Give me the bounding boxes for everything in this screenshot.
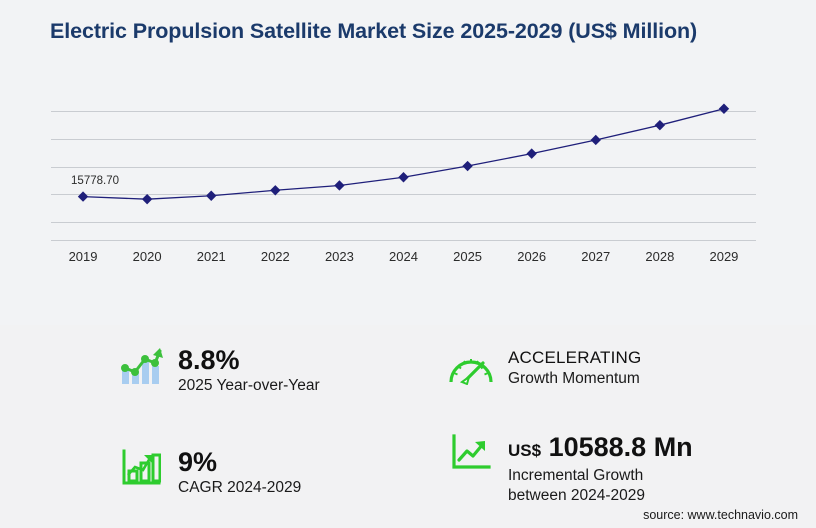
chart-infographic: Electric Propulsion Satellite Market Siz… [0, 0, 816, 528]
chart-data-point [398, 172, 408, 182]
chart-x-tick-label: 2023 [325, 249, 354, 264]
gauge-icon [448, 345, 494, 391]
growth-arrow-icon [448, 430, 494, 476]
chart-x-axis-labels: 2019202020212022202320242025202620272028… [51, 249, 756, 271]
chart-x-tick-label: 2027 [581, 249, 610, 264]
stat-amount-incremental: 10588.8 Mn [549, 432, 693, 462]
chart-x-tick-label: 2029 [709, 249, 738, 264]
stat-value-momentum: ACCELERATING [508, 347, 641, 369]
chart-x-tick-label: 2021 [197, 249, 226, 264]
bar-chart-trend-icon [118, 343, 164, 389]
chart-x-axis-line [51, 240, 756, 241]
stat-card-incremental-growth: US$ 10588.8 Mn Incremental Growth betwee… [448, 430, 693, 506]
chart-x-tick-label: 2028 [645, 249, 674, 264]
stat-label-yoy: 2025 Year-over-Year [178, 376, 320, 396]
chart-data-point [719, 104, 729, 114]
chart-data-point [591, 135, 601, 145]
chart-series-line [51, 95, 756, 245]
stat-card-cagr: 9% CAGR 2024-2029 [118, 445, 301, 498]
chart-x-tick-label: 2022 [261, 249, 290, 264]
stat-label-momentum: Growth Momentum [508, 369, 641, 389]
chart-data-point [206, 191, 216, 201]
chart-x-tick-label: 2024 [389, 249, 418, 264]
chart-point-label: 15778.70 [71, 175, 119, 187]
stat-label-cagr: CAGR 2024-2029 [178, 478, 301, 498]
stat-value-cagr: 9% [178, 447, 301, 478]
stat-label-incremental-1: Incremental Growth [508, 466, 693, 486]
chart-data-point [78, 191, 88, 201]
stats-panel: 8.8% 2025 Year-over-Year 9% CAGR 2024-20… [0, 325, 816, 528]
chart-data-point [655, 120, 665, 130]
stat-value-incremental: US$ 10588.8 Mn [508, 432, 693, 466]
chart-data-point [270, 185, 280, 195]
source-text: source: www.technavio.com [643, 508, 798, 522]
chart-line-path [83, 109, 724, 199]
stat-unit-incremental: US$ [508, 441, 541, 460]
chart-x-tick-label: 2020 [133, 249, 162, 264]
chart-x-tick-label: 2026 [517, 249, 546, 264]
page-title: Electric Propulsion Satellite Market Siz… [50, 16, 750, 46]
stat-card-momentum: ACCELERATING Growth Momentum [448, 345, 641, 391]
chart-data-point [462, 161, 472, 171]
cagr-bar-chart-icon [118, 445, 164, 491]
chart-data-point [526, 148, 536, 158]
chart-data-point [142, 194, 152, 204]
stat-card-yoy: 8.8% 2025 Year-over-Year [118, 343, 320, 396]
chart-x-tick-label: 2025 [453, 249, 482, 264]
chart-x-tick-label: 2019 [69, 249, 98, 264]
chart-data-point [334, 180, 344, 190]
stat-label-incremental-2: between 2024-2029 [508, 486, 693, 506]
line-chart: 15778.70 2019202020212022202320242025202… [0, 95, 816, 290]
stat-value-yoy: 8.8% [178, 345, 320, 376]
